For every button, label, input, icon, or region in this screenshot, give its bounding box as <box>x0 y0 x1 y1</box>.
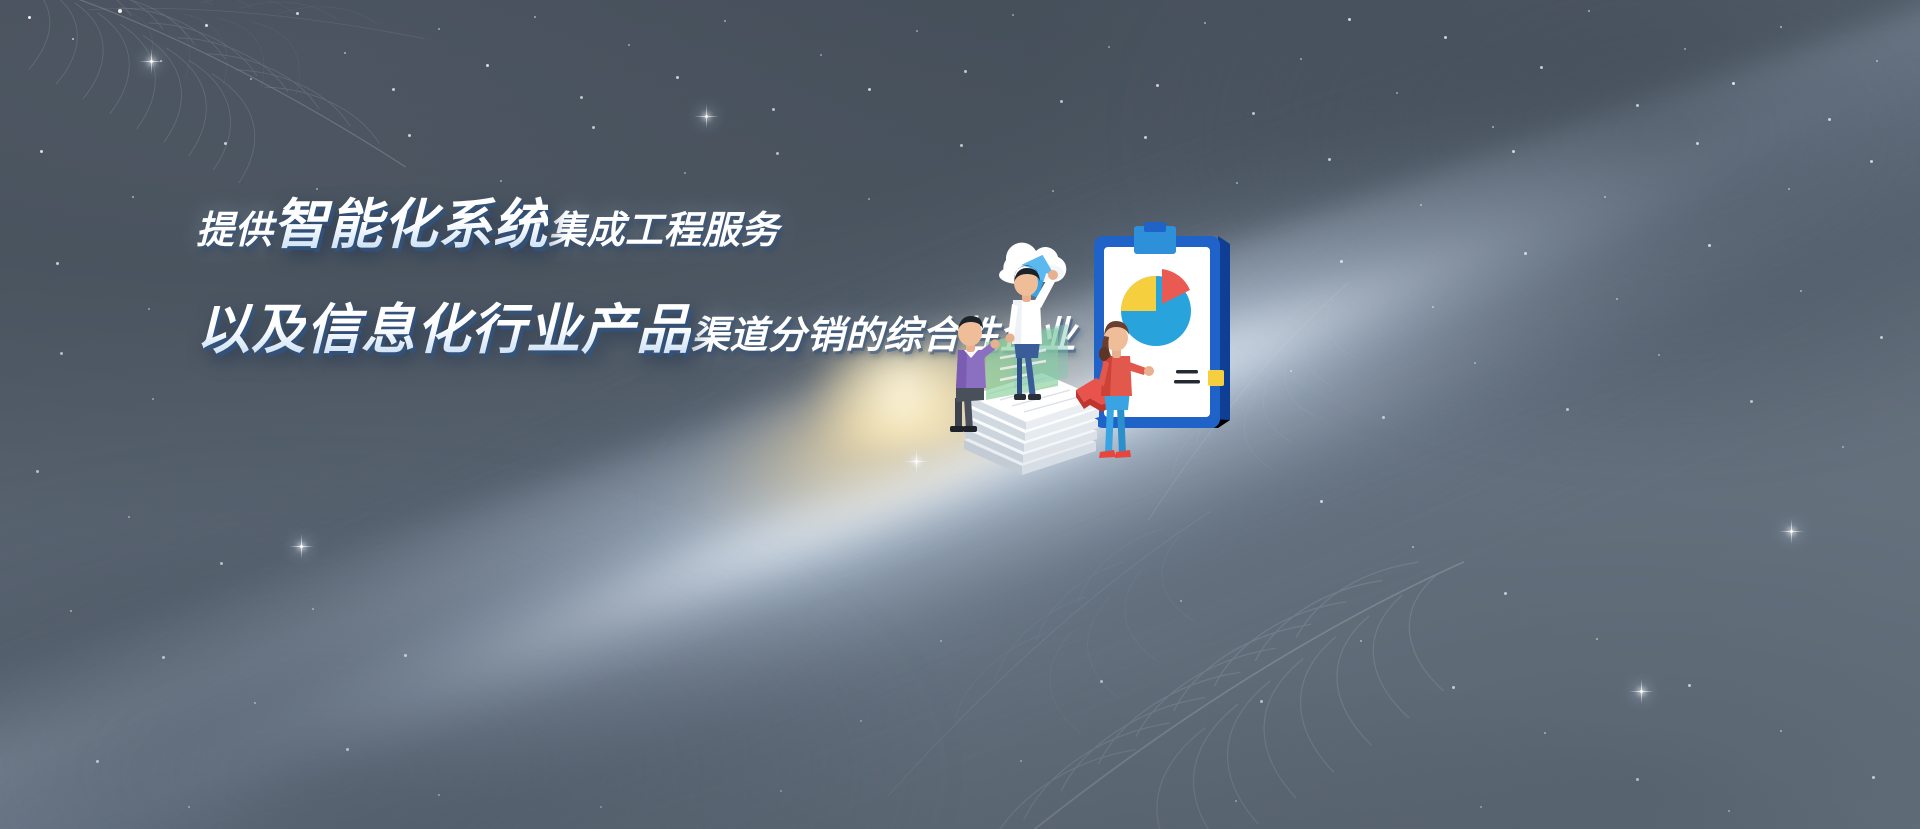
bright-star-far-right <box>1790 530 1793 533</box>
headline-line1-part2-emphasis: 智能化系统 <box>273 180 548 259</box>
bright-star-top-left <box>150 60 153 63</box>
hero-banner: 提供 智能化系统 集成工程服务 以及 信息化行业产品 渠道分销的综合性企业 <box>0 0 1920 829</box>
headline-line1-part1: 提供 <box>196 199 273 254</box>
headline-line2-part1-emphasis: 以及 <box>196 285 306 364</box>
business-analytics-illustration <box>918 218 1258 478</box>
headline-line2-part2-emphasis: 信息化行业产品 <box>306 285 691 364</box>
bright-star-right <box>1640 690 1643 693</box>
headline-line1-part3: 集成工程服务 <box>548 199 779 254</box>
bright-star-lower-left <box>300 545 303 548</box>
bright-star-mid <box>705 115 708 118</box>
